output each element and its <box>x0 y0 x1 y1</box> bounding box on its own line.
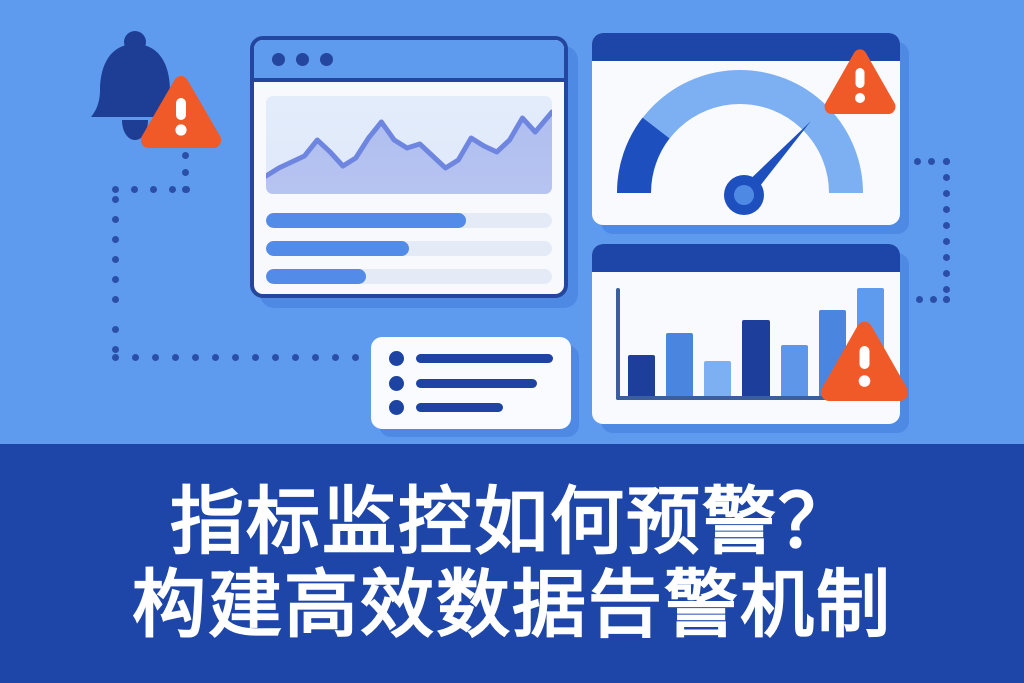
warning-triangle-barchart-icon <box>818 320 912 404</box>
dotted-connector-left-vertical <box>112 196 119 356</box>
bullet-icon <box>389 400 404 415</box>
dotted-connector-right-vertical <box>943 158 950 298</box>
progress-bar-list <box>266 213 552 284</box>
list-card <box>371 337 571 429</box>
dotted-connector-bottom <box>112 354 372 361</box>
browser-titlebar <box>254 40 564 82</box>
list-item-line <box>416 379 537 388</box>
list-item[interactable] <box>389 400 553 415</box>
list-item[interactable] <box>389 376 553 391</box>
progress-bar-row <box>266 269 552 284</box>
bar <box>666 333 693 396</box>
window-dot-maximize-icon[interactable] <box>320 53 333 66</box>
list-item-line <box>416 403 503 412</box>
banner-title-line-1: 指标监控如何预警？ <box>170 483 854 561</box>
bar <box>781 345 808 396</box>
banner-title-line-2: 构建高效数据告警机制 <box>132 566 892 644</box>
dotted-connector-top-left <box>112 186 190 193</box>
bullet-icon <box>389 376 404 391</box>
area-chart <box>266 96 552 194</box>
warning-triangle-bell-icon <box>138 74 224 150</box>
bar <box>704 361 731 396</box>
progress-bar-row <box>266 213 552 228</box>
bar-chart-y-axis <box>616 288 620 400</box>
list-item[interactable] <box>389 351 553 366</box>
bar-card-header <box>592 244 900 272</box>
window-dot-minimize-icon[interactable] <box>296 53 309 66</box>
list-item-line <box>416 354 553 363</box>
dotted-connector-right-bottom <box>902 296 950 303</box>
poster-canvas: 指标监控如何预警？ 构建高效数据告警机制 <box>0 0 1024 683</box>
bar <box>742 320 769 396</box>
bullet-icon <box>389 351 404 366</box>
title-banner: 指标监控如何预警？ 构建高效数据告警机制 <box>0 444 1024 683</box>
warning-triangle-gauge-icon <box>822 48 898 116</box>
area-chart-panel <box>266 96 552 194</box>
progress-bar-row <box>266 241 552 256</box>
window-dot-close-icon[interactable] <box>272 53 285 66</box>
browser-window <box>250 36 568 298</box>
bar <box>628 355 655 396</box>
